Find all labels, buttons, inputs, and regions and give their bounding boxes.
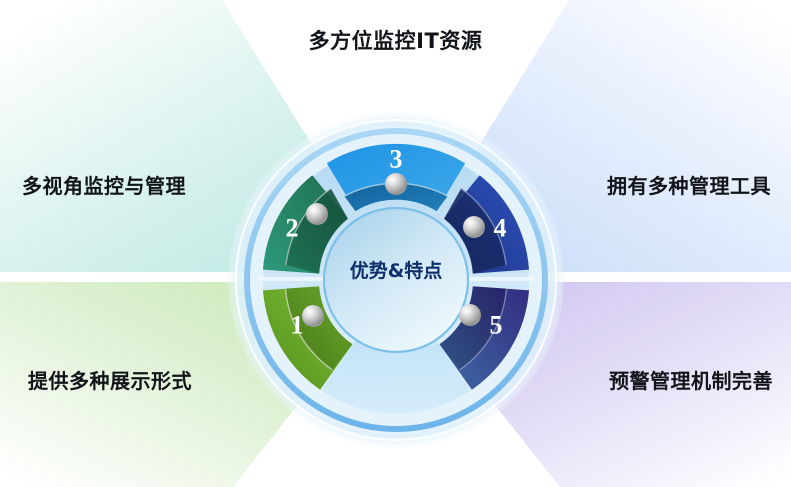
segment-5-number: 5 [490, 311, 503, 340]
segment-2-number: 2 [286, 214, 299, 243]
split-right [460, 277, 534, 281]
label-left-top: 多视角监控与管理 [22, 170, 186, 199]
segment-1-number: 1 [291, 311, 304, 340]
label-right-top: 拥有多种管理工具 [607, 170, 771, 199]
sphere-marker-4[interactable] [463, 216, 485, 238]
segment-4-number: 4 [494, 214, 507, 243]
sphere-marker-3[interactable] [385, 173, 407, 195]
split-left [258, 277, 332, 281]
label-right-bottom: 预警管理机制完善 [609, 365, 773, 394]
sphere-marker-1[interactable] [302, 305, 324, 327]
infographic-canvas: 1 2 3 4 5 [0, 0, 791, 487]
center-label: 优势&特点 [350, 259, 443, 282]
label-left-bottom: 提供多种展示形式 [28, 365, 192, 394]
donut-wheel: 1 2 3 4 5 [0, 0, 791, 487]
segment-3-number: 3 [390, 145, 403, 174]
sphere-marker-2[interactable] [306, 203, 328, 225]
sphere-marker-5[interactable] [459, 304, 481, 326]
page-title: 多方位监控IT资源 [309, 25, 483, 55]
